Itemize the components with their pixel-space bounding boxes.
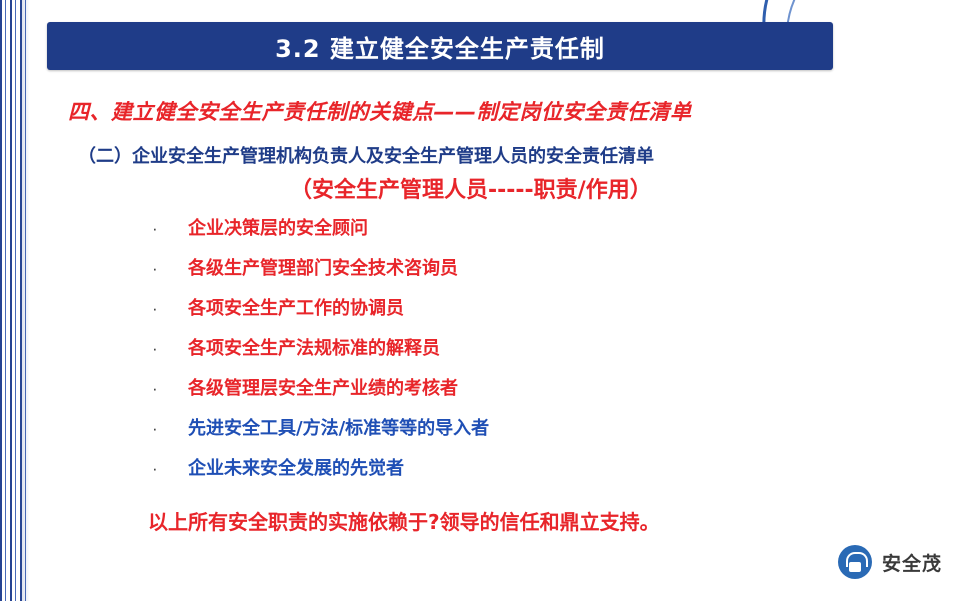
- bullet-dot-icon: ·: [150, 376, 188, 402]
- list-item: · 各级管理层安全生产业绩的考核者: [150, 376, 850, 416]
- list-item-label: 企业决策层的安全顾问: [188, 216, 368, 242]
- left-stripe-shadow: [22, 0, 30, 601]
- list-item: · 企业决策层的安全顾问: [150, 216, 850, 256]
- footer-note: 以上所有安全职责的实施依赖于?领导的信任和鼎立支持。: [148, 506, 660, 535]
- section-heading-red: 四、建立健全安全生产责任制的关键点——制定岗位安全责任清单: [68, 96, 908, 126]
- subsection-subtitle-red: （安全生产管理人员-----职责/作用）: [290, 172, 652, 204]
- subsection-heading-text: 企业安全生产管理机构负责人及安全生产管理人员的安全责任清单: [132, 146, 654, 167]
- slide-canvas: 3.2 建立健全安全生产责任制 四、建立健全安全生产责任制的关键点——制定岗位安…: [0, 0, 960, 601]
- bullet-dot-icon: ·: [150, 336, 188, 362]
- list-item-label: 各项安全生产工作的协调员: [188, 296, 404, 322]
- page-title: 3.2 建立健全安全生产责任制: [275, 29, 605, 64]
- bullet-dot-icon: ·: [150, 216, 188, 242]
- subsection-marker: （二）: [78, 146, 132, 167]
- watermark: 安全茂: [838, 545, 942, 579]
- slide-title-bar: 3.2 建立健全安全生产责任制: [47, 22, 833, 70]
- list-item: · 企业未来安全发展的先觉者: [150, 456, 850, 496]
- bullet-dot-icon: ·: [150, 416, 188, 442]
- bullet-dot-icon: ·: [150, 296, 188, 322]
- list-item-label: 先进安全工具/方法/标准等等的导入者: [188, 416, 489, 442]
- list-item: · 各项安全生产法规标准的解释员: [150, 336, 850, 376]
- list-item: · 先进安全工具/方法/标准等等的导入者: [150, 416, 850, 456]
- bullet-dot-icon: ·: [150, 256, 188, 282]
- list-item: · 各级生产管理部门安全技术咨询员: [150, 256, 850, 296]
- bullet-dot-icon: ·: [150, 456, 188, 482]
- bullet-list: · 企业决策层的安全顾问 · 各级生产管理部门安全技术咨询员 · 各项安全生产工…: [150, 216, 850, 496]
- brand-logo-icon: [838, 545, 872, 579]
- list-item-label: 企业未来安全发展的先觉者: [188, 456, 404, 482]
- list-item: · 各项安全生产工作的协调员: [150, 296, 850, 336]
- subsection-heading-blue: （二）企业安全生产管理机构负责人及安全生产管理人员的安全责任清单: [78, 142, 918, 168]
- list-item-label: 各级生产管理部门安全技术咨询员: [188, 256, 458, 282]
- list-item-label: 各项安全生产法规标准的解释员: [188, 336, 440, 362]
- watermark-label: 安全茂: [882, 549, 942, 576]
- list-item-label: 各级管理层安全生产业绩的考核者: [188, 376, 458, 402]
